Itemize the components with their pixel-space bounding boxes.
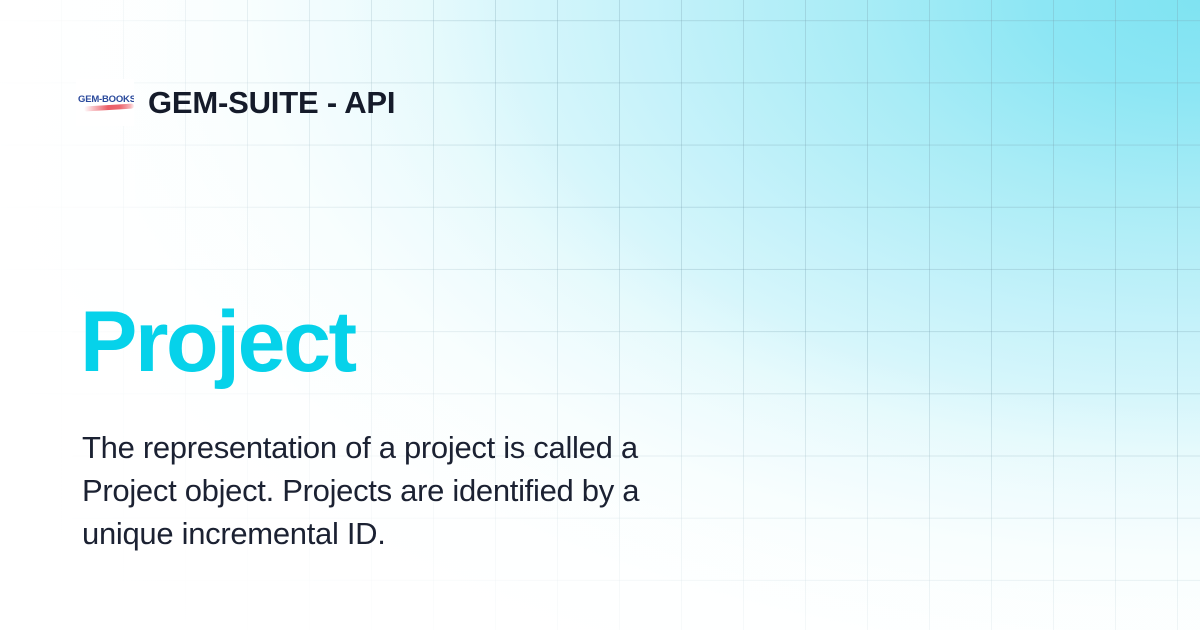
- logo-swoosh-icon: [84, 103, 134, 111]
- page-title: Project: [80, 296, 355, 388]
- logo-mark: GEM-BOOKS: [78, 93, 132, 113]
- logo-wordmark: GEM-BOOKS: [78, 94, 132, 105]
- og-card-canvas: GEM-BOOKS GEM-SUITE - API Project The re…: [0, 0, 1200, 630]
- header-title: GEM-SUITE - API: [148, 86, 395, 120]
- gem-books-logo: GEM-BOOKS: [76, 79, 134, 126]
- page-description: The representation of a project is calle…: [82, 426, 782, 555]
- brand-header: GEM-BOOKS GEM-SUITE - API: [76, 79, 395, 126]
